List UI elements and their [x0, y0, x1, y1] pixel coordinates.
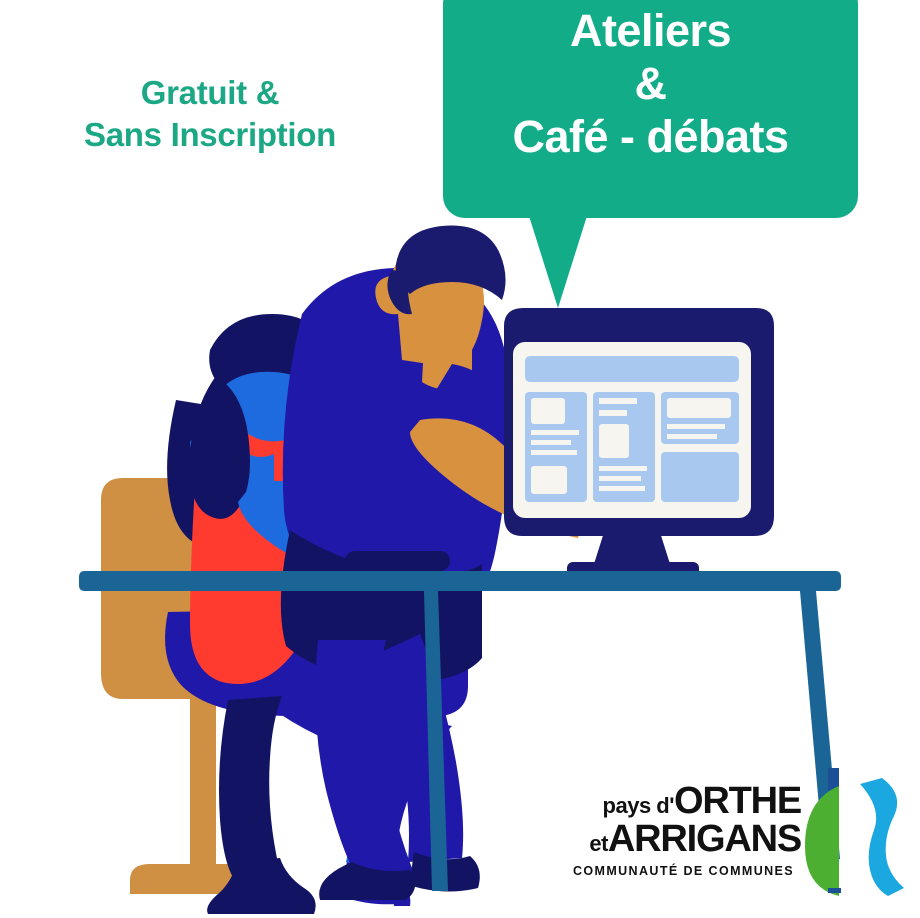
- speech-bubble-tail-icon: [529, 216, 587, 308]
- logo: pays d'ORTHE etARRIGANS COMMUNAUTÉ DE CO…: [566, 772, 911, 897]
- logo-orthe: ORTHE: [674, 780, 801, 822]
- logo-subtitle: COMMUNAUTÉ DE COMMUNES: [566, 864, 801, 878]
- speech-bubble: Ateliers & Café - débats: [443, 0, 858, 218]
- poster-canvas: Gratuit & Sans Inscription Ateliers & Ca…: [0, 0, 920, 918]
- logo-arrigans: ARRIGANS: [608, 818, 801, 860]
- logo-line-two: etARRIGANS: [566, 818, 801, 861]
- speech-bubble-text: Ateliers & Café - débats: [443, 4, 858, 163]
- logo-wordmark: pays d'ORTHE etARRIGANS COMMUNAUTÉ DE CO…: [566, 772, 801, 894]
- tagline-text: Gratuit & Sans Inscription: [0, 72, 420, 156]
- desktop-monitor: [504, 308, 774, 578]
- computer-mouse: [345, 551, 450, 571]
- logo-emblem-icon: [798, 768, 910, 896]
- screen-content: [525, 356, 739, 502]
- logo-et: et: [589, 831, 608, 856]
- logo-pays-d: pays d': [603, 793, 674, 818]
- logo-line-one: pays d'ORTHE: [566, 780, 801, 823]
